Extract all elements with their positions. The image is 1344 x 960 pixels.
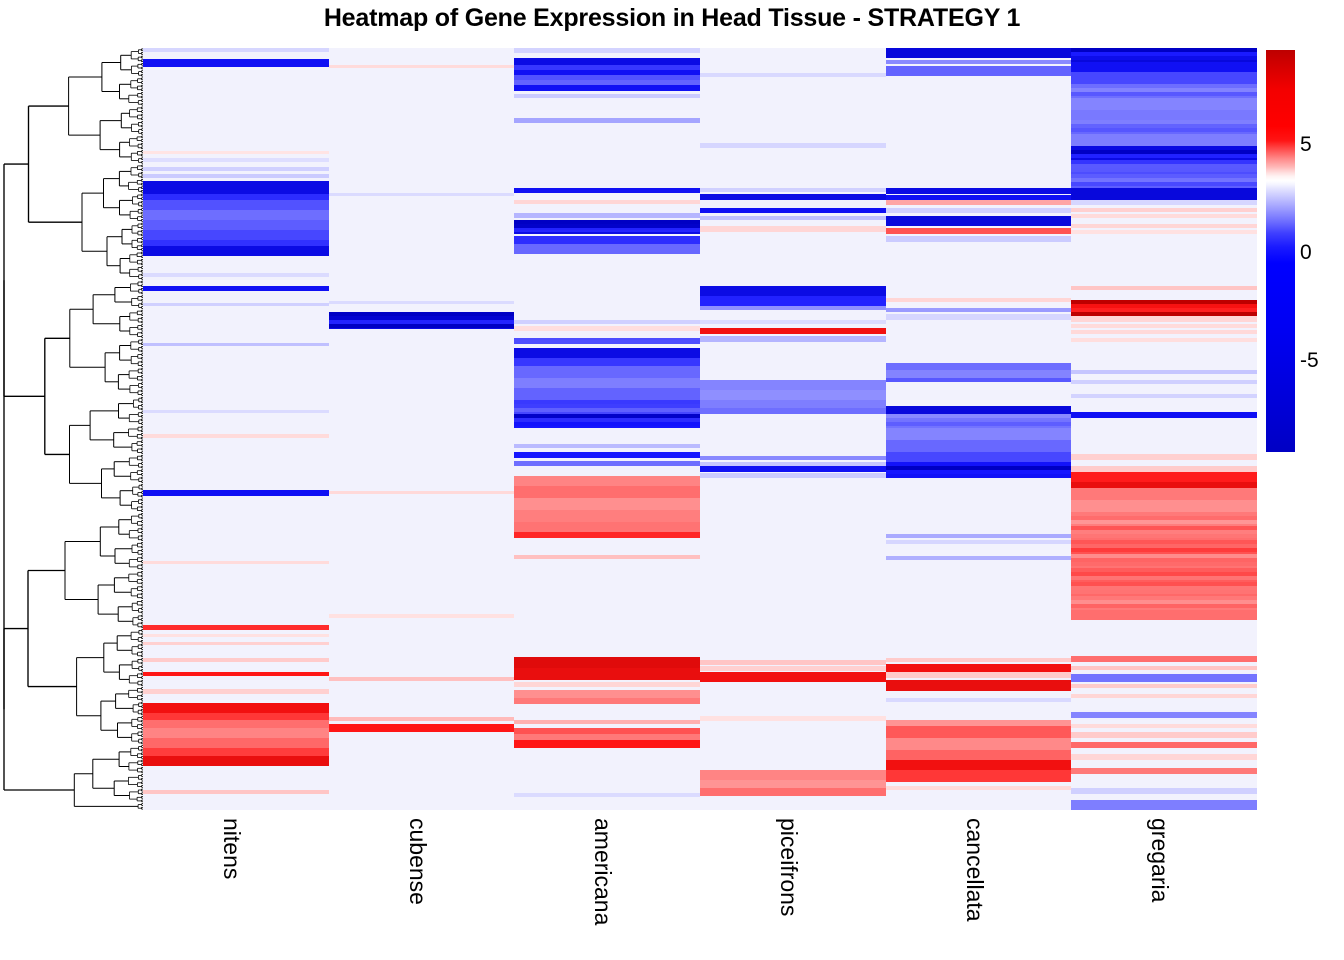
heatmap-band-row: [1071, 590, 1257, 594]
heatmap-band: [143, 672, 329, 676]
heatmap-band: [514, 452, 700, 458]
heatmap-band: [514, 682, 700, 687]
heatmap-band: [514, 486, 700, 498]
page-title: Heatmap of Gene Expression in Head Tissu…: [0, 4, 1344, 33]
heatmap-band: [700, 456, 886, 460]
heatmap-band: [1071, 134, 1257, 146]
heatmap-band: [700, 716, 886, 721]
heatmap-band: [1071, 110, 1257, 120]
heatmap-band: [1071, 338, 1257, 342]
heatmap-band: [329, 301, 515, 304]
heatmap-band: [514, 388, 700, 400]
heatmap-band: [886, 200, 1072, 205]
heatmap-band: [886, 406, 1072, 414]
heatmap-band: [514, 188, 700, 193]
colorbar-tick-neg5: -5: [1300, 350, 1319, 371]
heatmap-band: [514, 348, 700, 358]
heatmap-column-americana[interactable]: [514, 48, 700, 810]
heatmap-band: [886, 216, 1072, 226]
heatmap-band: [886, 363, 1072, 370]
heatmap-band: [143, 756, 329, 766]
heatmap-band: [143, 748, 329, 756]
heatmap-band: [143, 230, 329, 240]
heatmap-band-row: [1071, 604, 1257, 608]
x-axis-label-nitens: nitens: [218, 818, 245, 879]
heatmap-band-row: [1071, 576, 1257, 580]
heatmap-band: [143, 181, 329, 194]
heatmap-band: [514, 118, 700, 123]
x-axis-label-cubense: cubense: [404, 818, 431, 905]
heatmap-band: [1071, 214, 1257, 218]
heatmap-band: [700, 780, 886, 788]
heatmap-band: [1071, 208, 1257, 212]
heatmap-band: [143, 59, 329, 67]
heatmap-band: [143, 720, 329, 728]
heatmap-band: [1071, 742, 1257, 748]
heatmap-band: [329, 614, 515, 618]
heatmap-band: [886, 440, 1072, 452]
heatmap-band: [1071, 732, 1257, 738]
heatmap-band: [143, 642, 329, 645]
heatmap-band: [1071, 286, 1257, 290]
heatmap-band: [143, 210, 329, 220]
heatmap-band: [143, 48, 329, 52]
heatmap-band: [1071, 610, 1257, 620]
heatmap-band: [886, 698, 1072, 702]
heatmap-band: [886, 208, 1072, 213]
heatmap-band: [514, 698, 700, 704]
heatmap-band: [700, 188, 886, 192]
heatmap-band-row: [1071, 520, 1257, 524]
heatmap-band: [700, 306, 886, 310]
heatmap-band: [143, 220, 329, 230]
heatmap-column-gregaria[interactable]: [1071, 48, 1257, 810]
heatmap-band: [700, 143, 886, 148]
heatmap-band: [700, 672, 886, 682]
heatmap-band: [514, 48, 700, 53]
heatmap-band: [143, 658, 329, 662]
heatmap-band: [700, 194, 886, 200]
heatmap-figure: Heatmap of Gene Expression in Head Tissu…: [0, 0, 1344, 960]
heatmap-column-piceifrons[interactable]: [700, 48, 886, 810]
heatmap-band: [700, 216, 886, 220]
heatmap-band: [1071, 674, 1257, 682]
heatmap-band: [700, 390, 886, 400]
heatmap-band: [1071, 370, 1257, 374]
heatmap-band: [700, 380, 886, 390]
heatmap-band-row: [514, 228, 700, 232]
heatmap-band: [886, 672, 1072, 678]
heatmap-band: [143, 561, 329, 564]
heatmap-band: [143, 738, 329, 748]
heatmap-band: [514, 793, 700, 797]
heatmap-band: [143, 167, 329, 171]
colorbar-gradient: [1266, 50, 1295, 452]
heatmap-band: [886, 228, 1072, 234]
heatmap-band: [514, 668, 700, 680]
heatmap-band: [143, 151, 329, 154]
heatmap-band: [143, 200, 329, 210]
heatmap-band: [1071, 684, 1257, 688]
heatmap-band: [329, 65, 515, 68]
heatmap-band: [143, 728, 329, 738]
heatmap-band: [514, 244, 700, 254]
heatmap-band: [1071, 788, 1257, 794]
heatmap-band: [700, 770, 886, 780]
heatmap-band: [700, 208, 886, 213]
heatmap-band-row: [886, 474, 1072, 478]
heatmap-band: [143, 634, 329, 637]
row-dendrogram-svg: [2, 48, 143, 810]
heatmap-column-nitens[interactable]: [143, 48, 329, 810]
heatmap-band: [886, 556, 1072, 560]
heatmap-band: [514, 461, 700, 466]
heatmap-band: [143, 158, 329, 162]
heatmap-band: [143, 343, 329, 346]
heatmap-band: [886, 658, 1072, 662]
heatmap-band: [886, 60, 1072, 64]
heatmap-band: [1071, 188, 1257, 200]
heatmap-band: [886, 786, 1072, 790]
heatmap-band: [886, 188, 1072, 194]
heatmap-band: [1071, 724, 1257, 728]
heatmap-band: [514, 94, 700, 98]
x-axis-label-piceifrons: piceifrons: [775, 818, 802, 916]
heatmap-band: [1071, 488, 1257, 500]
heatmap-band: [886, 66, 1072, 76]
heatmap-band-row: [1071, 168, 1257, 172]
heatmap-band: [143, 246, 329, 256]
heatmap-band: [1071, 694, 1257, 698]
x-axis-label-gregaria: gregaria: [1146, 818, 1173, 902]
heatmap-grid[interactable]: [143, 48, 1257, 810]
row-dendrogram: [2, 48, 143, 810]
heatmap-band-row: [1071, 548, 1257, 552]
heatmap-band: [1071, 98, 1257, 110]
heatmap-band: [1071, 656, 1257, 662]
heatmap-band: [514, 740, 700, 748]
heatmap-band: [329, 491, 515, 494]
heatmap-band: [329, 724, 515, 732]
heatmap-band: [143, 689, 329, 694]
expression-colorbar[interactable]: 50-5: [1266, 50, 1295, 452]
heatmap-band-row: [329, 324, 515, 328]
heatmap-band: [1071, 712, 1257, 718]
heatmap-band-row: [1071, 562, 1257, 566]
heatmap-band: [1071, 230, 1257, 234]
heatmap-band: [514, 555, 700, 559]
heatmap-band: [329, 717, 515, 721]
heatmap-band: [514, 532, 700, 538]
heatmap-band-row: [514, 422, 700, 426]
heatmap-band: [1071, 316, 1257, 322]
heatmap-band: [700, 336, 886, 342]
heatmap-band: [886, 370, 1072, 378]
heatmap-band: [143, 174, 329, 178]
heatmap-band: [886, 308, 1072, 312]
heatmap-band: [886, 428, 1072, 440]
heatmap-band-row: [886, 422, 1072, 426]
heatmap-band: [1071, 666, 1257, 670]
heatmap-band: [886, 540, 1072, 544]
heatmap-band: [1071, 330, 1257, 334]
heatmap-band: [514, 690, 700, 698]
heatmap-band: [886, 452, 1072, 462]
heatmap-band: [143, 790, 329, 794]
heatmap-band: [143, 703, 329, 713]
heatmap-band: [514, 200, 700, 204]
heatmap-band: [514, 338, 700, 344]
heatmap-band: [1071, 224, 1257, 228]
heatmap-band: [1071, 72, 1257, 84]
heatmap-band: [886, 760, 1072, 770]
heatmap-band-row: [1071, 312, 1257, 316]
heatmap-band: [1071, 412, 1257, 418]
heatmap-band: [514, 326, 700, 331]
heatmap-band: [1071, 500, 1257, 512]
colorbar-tick-5: 5: [1300, 134, 1312, 155]
heatmap-band: [886, 378, 1072, 382]
heatmap-band: [1071, 380, 1257, 384]
heatmap-band: [143, 713, 329, 720]
heatmap-band: [700, 408, 886, 414]
heatmap-band-row: [514, 408, 700, 412]
heatmap-column-cancellata[interactable]: [886, 48, 1072, 810]
heatmap-band: [1071, 394, 1257, 398]
heatmap-column-cubense[interactable]: [329, 48, 515, 810]
heatmap-band-row: [1071, 534, 1257, 538]
heatmap-band: [886, 236, 1072, 242]
heatmap-band: [329, 193, 515, 196]
heatmap-band: [700, 73, 886, 77]
heatmap-band: [700, 226, 886, 232]
heatmap-band: [514, 213, 700, 218]
heatmap-band: [1071, 754, 1257, 760]
heatmap-band: [886, 750, 1072, 760]
heatmap-band: [1071, 800, 1257, 810]
heatmap-band-row: [1071, 128, 1257, 132]
heatmap-band: [886, 664, 1072, 672]
heatmap-band: [514, 378, 700, 388]
heatmap-band: [514, 366, 700, 378]
heatmap-band: [700, 328, 886, 334]
heatmap-band-row: [1071, 92, 1257, 96]
heatmap-band: [1071, 200, 1257, 205]
heatmap-band-row: [1071, 154, 1257, 158]
heatmap-band: [700, 666, 886, 671]
heatmap-band: [143, 303, 329, 306]
heatmap-band: [886, 770, 1072, 782]
x-axis-label-americana: americana: [589, 818, 616, 925]
heatmap-band: [1071, 768, 1257, 774]
heatmap-band: [700, 400, 886, 408]
heatmap-band: [700, 788, 886, 796]
heatmap-band: [514, 444, 700, 448]
heatmap-band: [514, 320, 700, 324]
heatmap-band: [700, 473, 886, 478]
heatmap-band: [143, 625, 329, 630]
heatmap-band: [886, 298, 1072, 302]
heatmap-band: [514, 498, 700, 510]
heatmap-band: [886, 534, 1072, 538]
heatmap-band: [700, 296, 886, 306]
heatmap-band-row: [1071, 56, 1257, 60]
heatmap-band: [514, 510, 700, 522]
heatmap-band: [514, 720, 700, 724]
heatmap-band: [1071, 62, 1257, 72]
heatmap-band: [1071, 472, 1257, 482]
heatmap-band: [514, 58, 700, 65]
heatmap-band: [886, 48, 1072, 58]
x-axis-label-cancellata: cancellata: [961, 818, 988, 922]
heatmap-band: [514, 85, 700, 91]
heatmap-band: [700, 286, 886, 296]
heatmap-band: [700, 660, 886, 665]
heatmap-band: [886, 314, 1072, 320]
heatmap-band: [1071, 324, 1257, 328]
heatmap-band: [886, 738, 1072, 750]
heatmap-band: [143, 273, 329, 277]
colorbar-tick-0: 0: [1300, 242, 1312, 263]
heatmap-band: [143, 286, 329, 291]
heatmap-band: [514, 476, 700, 486]
heatmap-band: [143, 410, 329, 413]
heatmap-band: [886, 726, 1072, 738]
heatmap-band: [143, 434, 329, 438]
heatmap-band: [1071, 454, 1257, 460]
heatmap-band: [514, 657, 700, 668]
heatmap-band: [143, 490, 329, 496]
heatmap-band: [700, 320, 886, 324]
heatmap-band-row: [1071, 182, 1257, 186]
heatmap-band: [700, 466, 886, 472]
heatmap-band: [886, 680, 1072, 691]
heatmap-band: [514, 236, 700, 244]
heatmap-band: [329, 677, 515, 681]
heatmap-band: [514, 358, 700, 366]
heatmap-band: [514, 522, 700, 532]
